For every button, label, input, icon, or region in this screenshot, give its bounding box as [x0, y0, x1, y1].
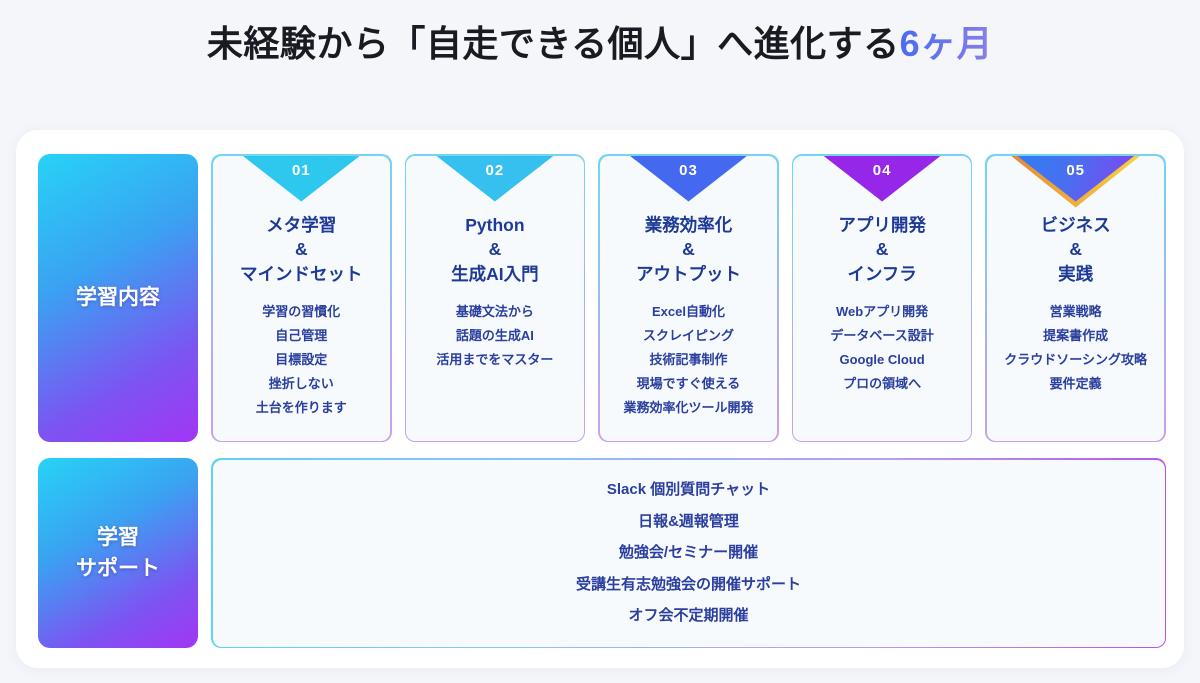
content-row: 学習内容 01 メタ学習 & マインドセット 学習の習慣化自己管理目標設定挫折し… [38, 154, 1166, 442]
module-card-inner: 02 Python & 生成AI入門 基礎文法から話題の生成AI活用までをマスタ… [406, 156, 584, 441]
module-list-02: 基礎文法から話題の生成AI活用までをマスター [432, 300, 557, 372]
module-card-03[interactable]: 03 業務効率化 & アウトプット Excel自動化スクレイピング技術記事制作現… [598, 154, 779, 442]
module-card-inner: 05 ビジネス & 実践 営業戦略提案書作成クラウドソーシング攻略要件定義 [987, 156, 1165, 441]
module-list-item: クラウドソーシング攻略 [1004, 348, 1147, 372]
module-list-item: Google Cloud [830, 348, 933, 372]
curriculum-panel: 学習内容 01 メタ学習 & マインドセット 学習の習慣化自己管理目標設定挫折し… [16, 130, 1184, 668]
module-list-item: 活用までをマスター [436, 348, 553, 372]
support-list-item: オフ会不定期開催 [576, 600, 801, 632]
module-card-inner: 03 業務効率化 & アウトプット Excel自動化スクレイピング技術記事制作現… [600, 156, 778, 441]
module-card-01[interactable]: 01 メタ学習 & マインドセット 学習の習慣化自己管理目標設定挫折しない土台を… [211, 154, 392, 442]
page-title-accent: 6ヶ月 [900, 23, 994, 64]
support-row: 学習 サポート Slack 個別質問チャット日報&週報管理勉強会/セミナー開催受… [38, 458, 1166, 648]
module-list-item: 現場ですぐ使える [623, 372, 753, 396]
side-label-content: 学習内容 [38, 154, 198, 442]
module-list-item: 提案書作成 [1004, 324, 1147, 348]
support-list-item: Slack 個別質問チャット [576, 474, 801, 506]
module-list-item: 挫折しない [256, 372, 347, 396]
module-title-05: ビジネス & 実践 [1041, 213, 1111, 288]
module-list-03: Excel自動化スクレイピング技術記事制作現場ですぐ使える業務効率化ツール開発 [619, 300, 757, 420]
module-badge-04: 04 [823, 156, 941, 202]
module-list-item: 話題の生成AI [436, 324, 553, 348]
module-card-05[interactable]: 05 ビジネス & 実践 営業戦略提案書作成クラウドソーシング攻略要件定義 [985, 154, 1166, 442]
module-list-item: 技術記事制作 [623, 348, 753, 372]
module-list-item: 業務効率化ツール開発 [623, 396, 753, 420]
module-title-02: Python & 生成AI入門 [451, 213, 539, 288]
support-list-item: 勉強会/セミナー開催 [576, 537, 801, 569]
module-list-item: 土台を作ります [256, 396, 347, 420]
module-card-02[interactable]: 02 Python & 生成AI入門 基礎文法から話題の生成AI活用までをマスタ… [405, 154, 586, 442]
module-list-item: 学習の習慣化 [256, 300, 347, 324]
side-label-support: 学習 サポート [38, 458, 198, 648]
module-badge-05: 05 [1017, 156, 1135, 202]
module-list-item: 要件定義 [1004, 372, 1147, 396]
module-badge-02: 02 [436, 156, 554, 202]
module-title-03: 業務効率化 & アウトプット [636, 213, 741, 288]
module-card-inner: 04 アプリ開発 & インフラ Webアプリ開発データベース設計Google C… [793, 156, 971, 441]
page-title: 未経験から「自走できる個人」へ進化する6ヶ月 [0, 0, 1200, 86]
module-list-04: Webアプリ開発データベース設計Google Cloudプロの領域へ [826, 300, 937, 396]
module-card-inner: 01 メタ学習 & マインドセット 学習の習慣化自己管理目標設定挫折しない土台を… [213, 156, 391, 441]
module-badge-01: 01 [242, 156, 360, 202]
module-list-item: Excel自動化 [623, 300, 753, 324]
module-list-05: 営業戦略提案書作成クラウドソーシング攻略要件定義 [1000, 300, 1151, 396]
module-card-04[interactable]: 04 アプリ開発 & インフラ Webアプリ開発データベース設計Google C… [792, 154, 973, 442]
module-title-01: メタ学習 & マインドセット [240, 213, 363, 288]
module-list-item: プロの領域へ [830, 372, 933, 396]
support-list: Slack 個別質問チャット日報&週報管理勉強会/セミナー開催受講生有志勉強会の… [576, 474, 801, 632]
module-badge-03: 03 [629, 156, 747, 202]
module-list-item: Webアプリ開発 [830, 300, 933, 324]
module-title-04: アプリ開発 & インフラ [838, 213, 926, 288]
module-list-item: 基礎文法から [436, 300, 553, 324]
support-list-item: 受講生有志勉強会の開催サポート [576, 569, 801, 601]
support-box-inner: Slack 個別質問チャット日報&週報管理勉強会/セミナー開催受講生有志勉強会の… [213, 460, 1165, 647]
module-list-item: スクレイピング [623, 324, 753, 348]
module-list-item: 自己管理 [256, 324, 347, 348]
module-list-item: データベース設計 [830, 324, 933, 348]
page-title-main: 未経験から「自走できる個人」へ進化する [207, 23, 900, 64]
support-box: Slack 個別質問チャット日報&週報管理勉強会/セミナー開催受講生有志勉強会の… [211, 458, 1166, 648]
module-list-item: 目標設定 [256, 348, 347, 372]
module-list-01: 学習の習慣化自己管理目標設定挫折しない土台を作ります [252, 300, 351, 420]
support-list-item: 日報&週報管理 [576, 506, 801, 538]
module-list-item: 営業戦略 [1004, 300, 1147, 324]
